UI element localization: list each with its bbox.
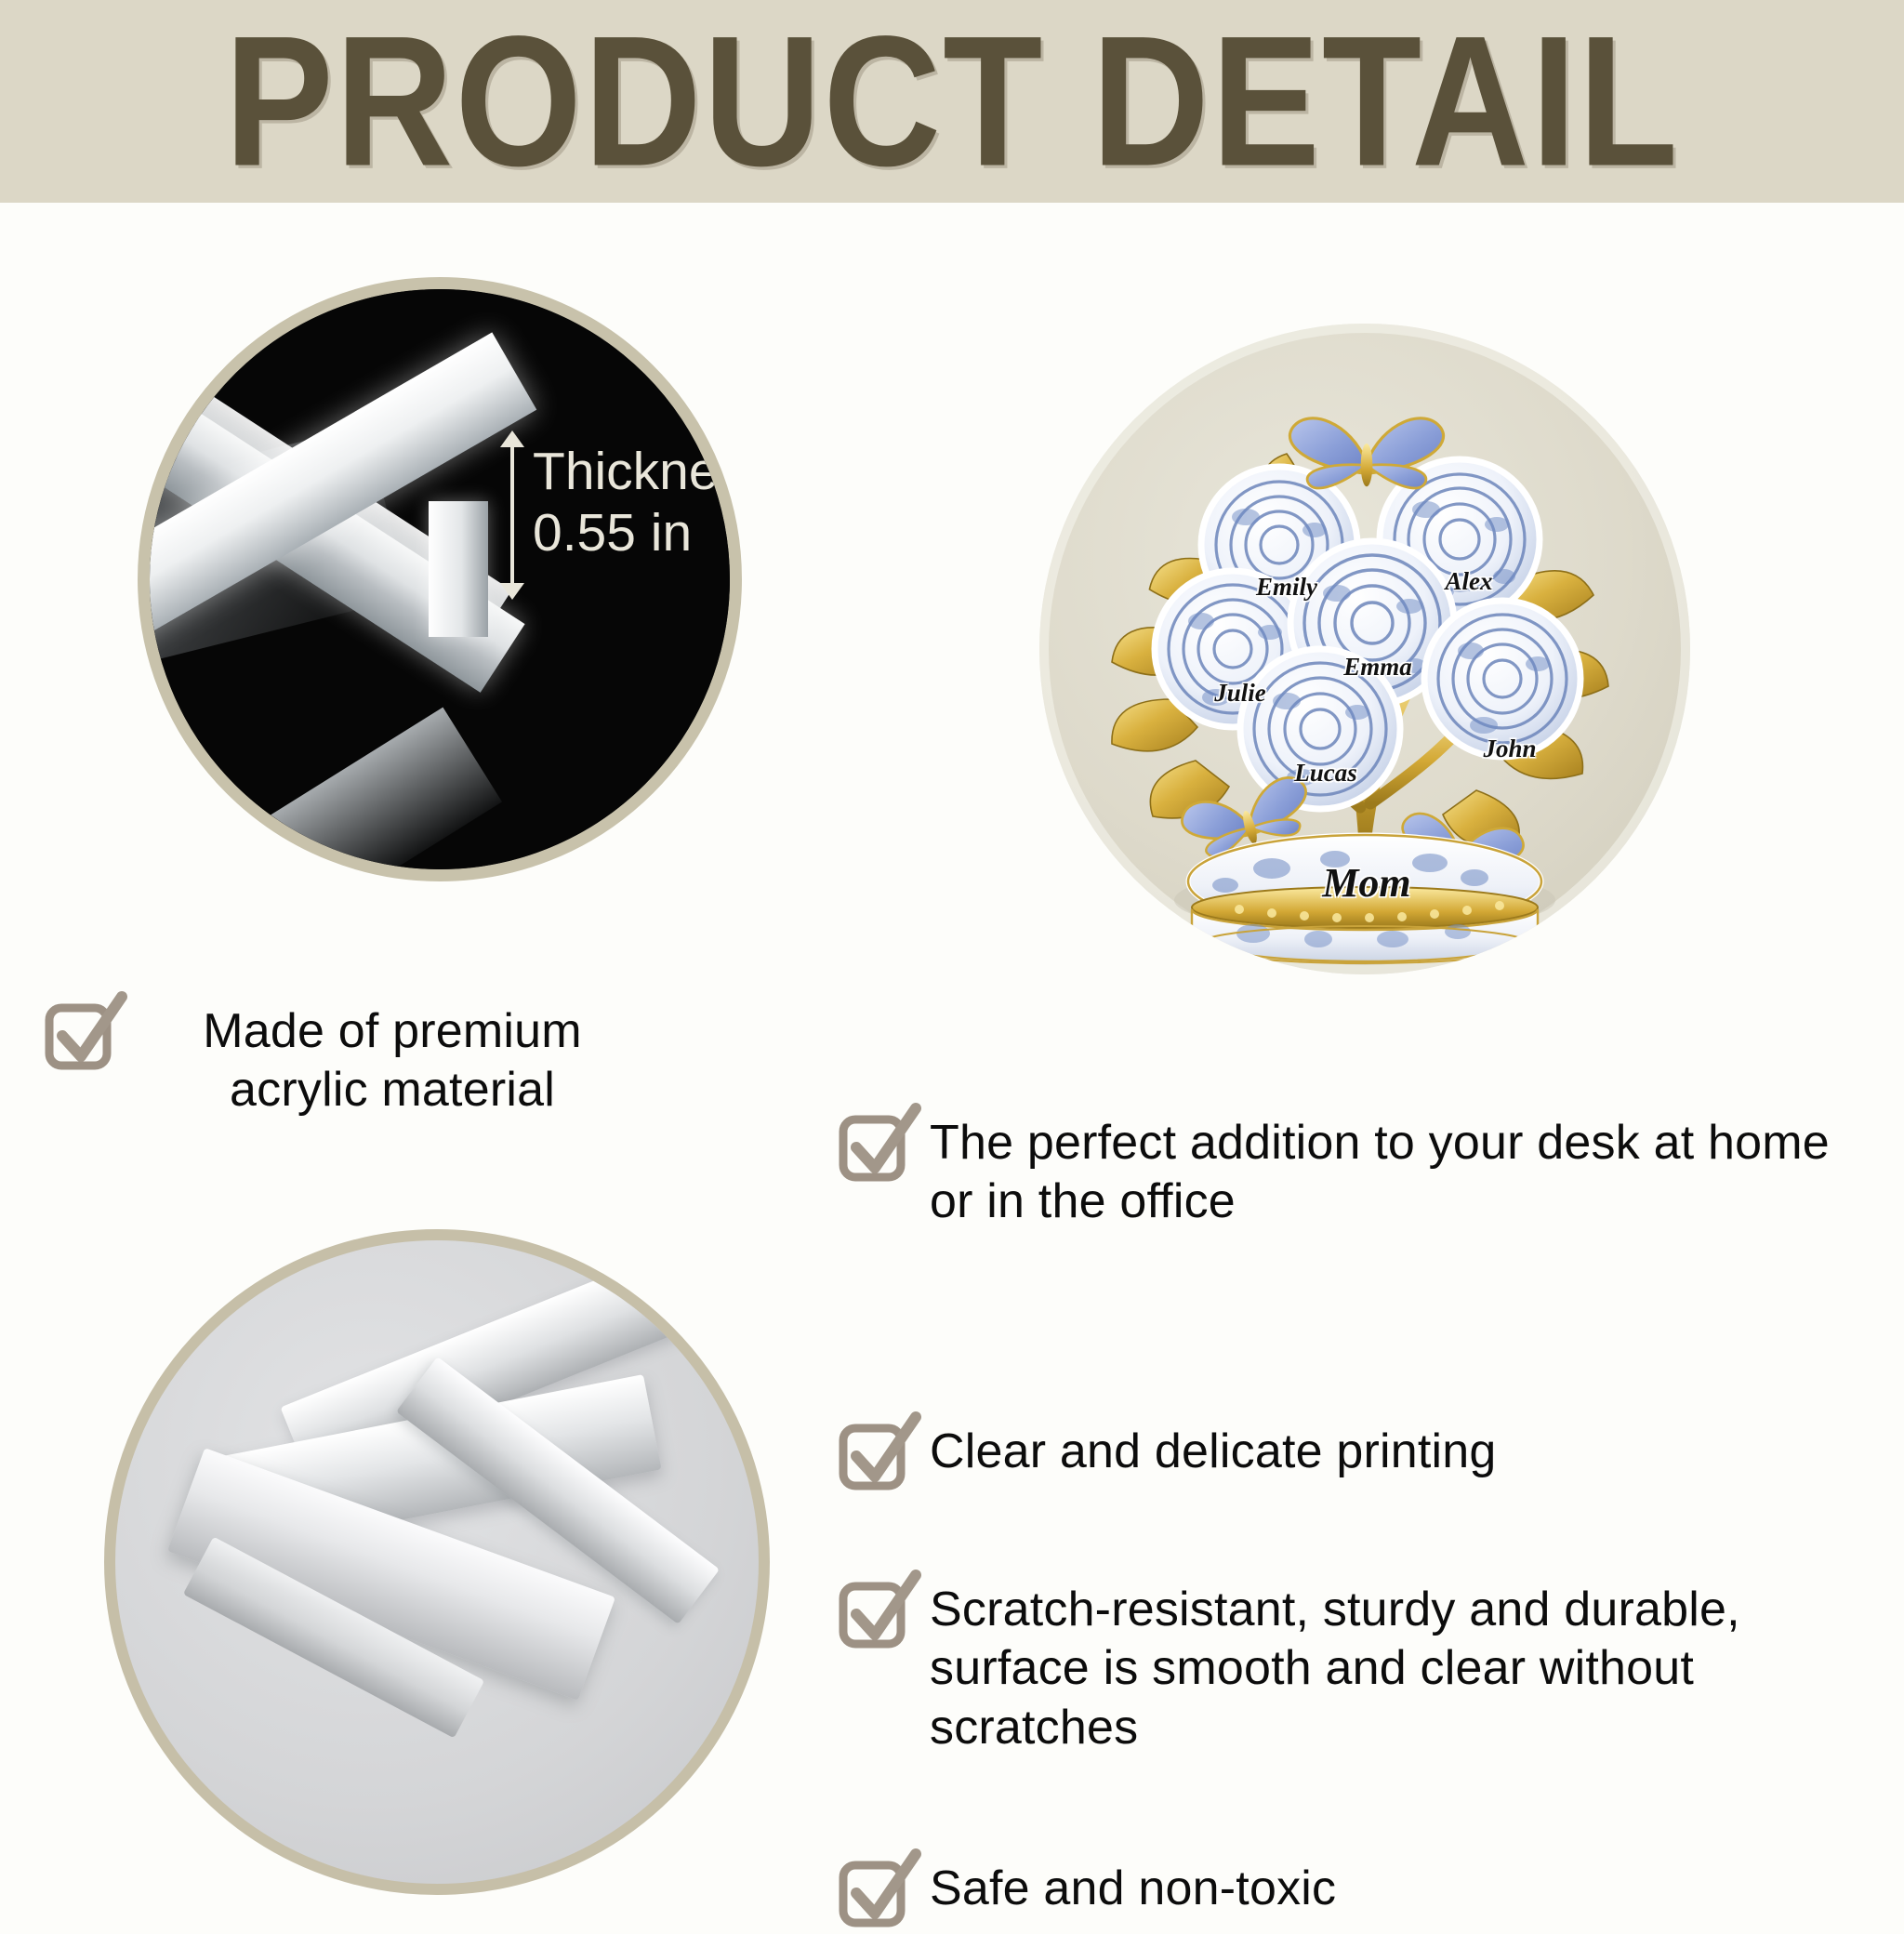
acrylic-lower-reflection [206, 708, 502, 881]
feature-label: Clear and delicate printing [930, 1423, 1497, 1481]
thickness-label-line1: Thickness [533, 442, 742, 501]
checkbox-checked-icon [842, 1581, 904, 1642]
rose-name-lucas: Lucas [1261, 759, 1391, 788]
feature-item-premium-acrylic: Made of premium acrylic material [48, 1002, 690, 1120]
rose-john [1424, 601, 1580, 757]
feature-label: Safe and non-toxic [930, 1860, 1336, 1918]
feature-item-clear-printing: Clear and delicate printing [842, 1423, 1884, 1484]
rose-name-john: John [1445, 735, 1575, 763]
thickness-label-line2: 0.55 in [533, 503, 692, 563]
rose-name-emma: Emma [1313, 653, 1443, 682]
feature-item-desk-addition: The perfect addition to your desk at hom… [842, 1114, 1884, 1232]
thickness-arrow-icon [510, 445, 514, 585]
acrylic-sheets-circle [104, 1229, 770, 1895]
feature-item-safe-non-toxic: Safe and non-toxic [842, 1860, 1884, 1921]
rose-name-alex: Alex [1404, 567, 1534, 596]
product-detail-page: PRODUCT DETAIL Thickness0.55 in [0, 0, 1904, 1904]
checkbox-checked-icon [842, 1860, 904, 1921]
checkbox-checked-icon [842, 1423, 904, 1484]
feature-label: Made of premium acrylic material [132, 1002, 653, 1120]
rose-name-julie: Julie [1175, 679, 1305, 708]
page-header-band: PRODUCT DETAIL [0, 0, 1904, 203]
base-name-mom: Mom [1300, 859, 1434, 907]
product-photo-circle: Emily Alex Julie Emma John Lucas Mom [1039, 324, 1690, 974]
product-plaque: Emily Alex Julie Emma John Lucas Mom [1039, 324, 1690, 974]
page-title: PRODUCT DETAIL [224, 8, 1679, 194]
rose-name-emily: Emily [1222, 573, 1352, 602]
feature-label: Scratch-resistant, sturdy and durable, s… [930, 1581, 1884, 1757]
feature-item-scratch-resistant: Scratch-resistant, sturdy and durable, s… [842, 1581, 1884, 1757]
checkbox-checked-icon [48, 1002, 110, 1064]
acrylic-edge-face [429, 501, 488, 637]
feature-label: The perfect addition to your desk at hom… [930, 1114, 1884, 1232]
acrylic-edge-photo [150, 289, 730, 869]
thickness-label: Thickness0.55 in [533, 442, 742, 563]
checkbox-checked-icon [842, 1114, 904, 1175]
butterfly-top [1289, 418, 1443, 488]
thickness-closeup-circle: Thickness0.55 in [138, 277, 742, 881]
